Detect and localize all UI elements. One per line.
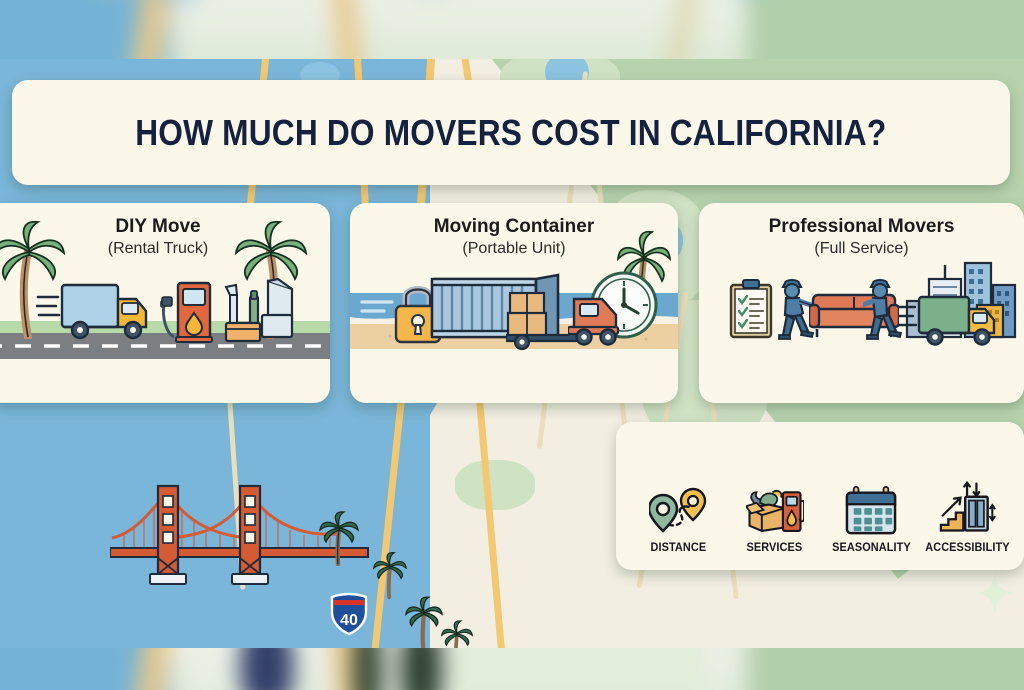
service-title: Professional Movers — [699, 217, 1024, 238]
diy-move-heading: DIY Move (Rental Truck) — [0, 217, 330, 259]
service-subtitle: (Full Service) — [699, 239, 1024, 259]
cost-factor-distance[interactable]: DISTANCE — [630, 479, 727, 554]
service-subtitle: (Rental Truck) — [0, 239, 330, 259]
clipboard-checklist-icon — [729, 279, 773, 339]
moving-container-heading: Moving Container (Portable Unit) — [350, 217, 678, 259]
mover-person-icon — [863, 279, 911, 341]
highway-number: 40 — [340, 612, 358, 629]
cost-factor-label: DISTANCE — [650, 542, 706, 554]
flatbed-truck-icon — [568, 287, 640, 347]
palm-tree-icon — [372, 550, 408, 600]
service-subtitle: (Portable Unit) — [350, 239, 678, 259]
page-title-card: HOW MUCH DO MOVERS COST IN CALIFORNIA? — [12, 80, 1010, 185]
cost-factor-label: SERVICES — [747, 542, 803, 554]
cost-factor-label: SEASONALITY — [832, 542, 911, 554]
infographic-canvas: 40 HOW MUCH DO MOVERS COST IN CALIFORNIA… — [0, 0, 1024, 690]
blurred-bottom-band — [0, 648, 1024, 690]
calendar-icon — [842, 479, 900, 535]
cost-factor-services[interactable]: SERVICES — [727, 479, 824, 554]
service-card-diy-move[interactable]: DIY Move (Rental Truck) — [0, 203, 330, 403]
service-card-moving-container[interactable]: Moving Container (Portable Unit) — [350, 203, 678, 403]
blurred-top-band — [0, 0, 1024, 59]
interstate-shield-icon: 40 — [330, 592, 368, 636]
supplies-box-fuel-icon — [746, 479, 804, 535]
page-title: HOW MUCH DO MOVERS COST IN CALIFORNIA? — [135, 112, 886, 154]
palm-tree-icon — [404, 595, 444, 649]
palm-tree-icon — [318, 510, 360, 566]
moving-truck-icon[interactable] — [36, 279, 158, 345]
map-park-patch — [455, 460, 535, 510]
cost-factor-label: ACCESSIBILITY — [926, 542, 1010, 554]
cost-factor-seasonality[interactable]: SEASONALITY — [823, 479, 920, 554]
professional-movers-heading: Professional Movers (Full Service) — [699, 217, 1024, 259]
stairs-elevator-icon — [939, 479, 997, 535]
delivery-truck-icon — [895, 293, 1005, 349]
cost-factors-row: DISTANCE — [616, 422, 1024, 570]
cost-factors-panel: DISTANCE — [616, 422, 1024, 570]
service-title: Moving Container — [350, 217, 678, 238]
sparkle-icon — [975, 572, 1015, 614]
service-title: DIY Move — [0, 217, 330, 238]
moving-supplies-icon[interactable] — [222, 277, 298, 345]
map-pin-route-icon — [649, 479, 707, 535]
gas-pump-icon[interactable] — [160, 277, 220, 345]
service-card-professional-movers[interactable]: Professional Movers (Full Service) — [699, 203, 1024, 403]
cost-factor-accessibility[interactable]: ACCESSIBILITY — [920, 479, 1017, 554]
